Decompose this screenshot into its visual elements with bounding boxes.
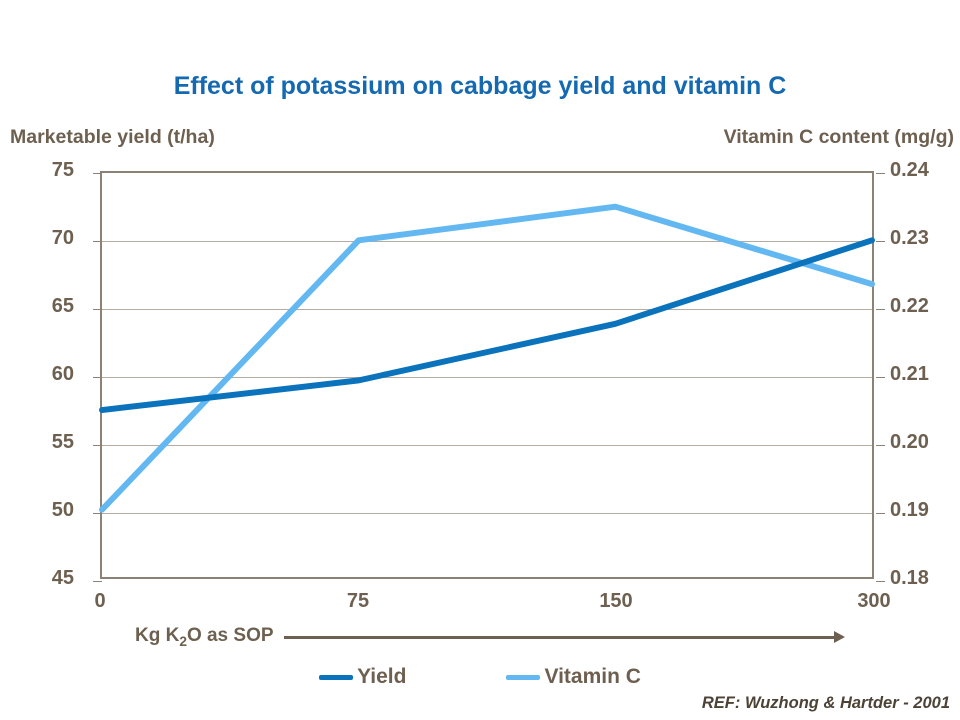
left-tick-mark xyxy=(93,241,102,242)
left-tick-mark xyxy=(93,377,102,378)
left-tick-label: 70 xyxy=(52,227,74,250)
right-tick-label: 0.19 xyxy=(890,499,929,522)
right-tick-label: 0.23 xyxy=(890,227,929,250)
right-tick-mark xyxy=(876,309,885,310)
series-lines xyxy=(102,173,872,577)
right-tick-label: 0.18 xyxy=(890,567,929,590)
x-axis-title: Kg K2O as SOP xyxy=(135,625,274,649)
right-tick-label: 0.20 xyxy=(890,431,929,454)
left-tick-label: 60 xyxy=(52,363,74,386)
x-axis-title-suffix: O as SOP xyxy=(187,625,274,646)
x-tick-label: 0 xyxy=(94,590,105,613)
x-axis-ticks: 075150300 xyxy=(100,590,874,620)
x-axis-title-subscript: 2 xyxy=(179,634,187,649)
legend-label: Vitamin C xyxy=(544,665,640,689)
left-tick-label: 45 xyxy=(52,567,74,590)
plot-area: 45505560657075 0.180.190.200.210.220.230… xyxy=(100,171,874,579)
left-tick-mark xyxy=(93,445,102,446)
right-tick-label: 0.21 xyxy=(890,363,929,386)
legend-swatch xyxy=(319,675,353,680)
legend-label: Yield xyxy=(357,665,406,689)
reference-note: REF: Wuzhong & Hartder - 2001 xyxy=(702,694,950,713)
right-tick-mark xyxy=(876,241,885,242)
left-tick-label: 55 xyxy=(52,431,74,454)
right-tick-label: 0.22 xyxy=(890,295,929,318)
left-tick-label: 65 xyxy=(52,295,74,318)
left-tick-mark xyxy=(93,513,102,514)
right-tick-mark xyxy=(876,513,885,514)
right-tick-mark xyxy=(876,445,885,446)
legend-swatch xyxy=(506,675,540,680)
right-tick-mark xyxy=(876,581,885,582)
vitaminc-line xyxy=(102,207,872,510)
right-tick-label: 0.24 xyxy=(890,159,929,182)
x-axis-arrow-icon xyxy=(284,631,845,643)
left-tick-mark xyxy=(93,173,102,174)
arrow-head xyxy=(834,631,845,643)
x-axis-title-prefix: Kg K xyxy=(135,625,179,646)
left-tick-mark xyxy=(93,581,102,582)
page-title: Effect of potassium on cabbage yield and… xyxy=(0,72,960,101)
right-tick-mark xyxy=(876,377,885,378)
x-tick-label: 300 xyxy=(857,590,890,613)
right-axis-title: Vitamin C content (mg/g) xyxy=(724,126,954,149)
x-axis-title-row: Kg K2O as SOP xyxy=(135,625,845,649)
left-tick-label: 50 xyxy=(52,499,74,522)
legend-item[interactable]: Vitamin C xyxy=(506,665,640,689)
arrow-shaft xyxy=(284,636,836,639)
x-tick-label: 150 xyxy=(599,590,632,613)
x-tick-label: 75 xyxy=(347,590,369,613)
left-axis-title: Marketable yield (t/ha) xyxy=(10,126,215,149)
legend-item[interactable]: Yield xyxy=(319,665,406,689)
legend: YieldVitamin C xyxy=(0,665,960,689)
left-tick-mark xyxy=(93,309,102,310)
right-tick-mark xyxy=(876,173,885,174)
left-tick-label: 75 xyxy=(52,159,74,182)
